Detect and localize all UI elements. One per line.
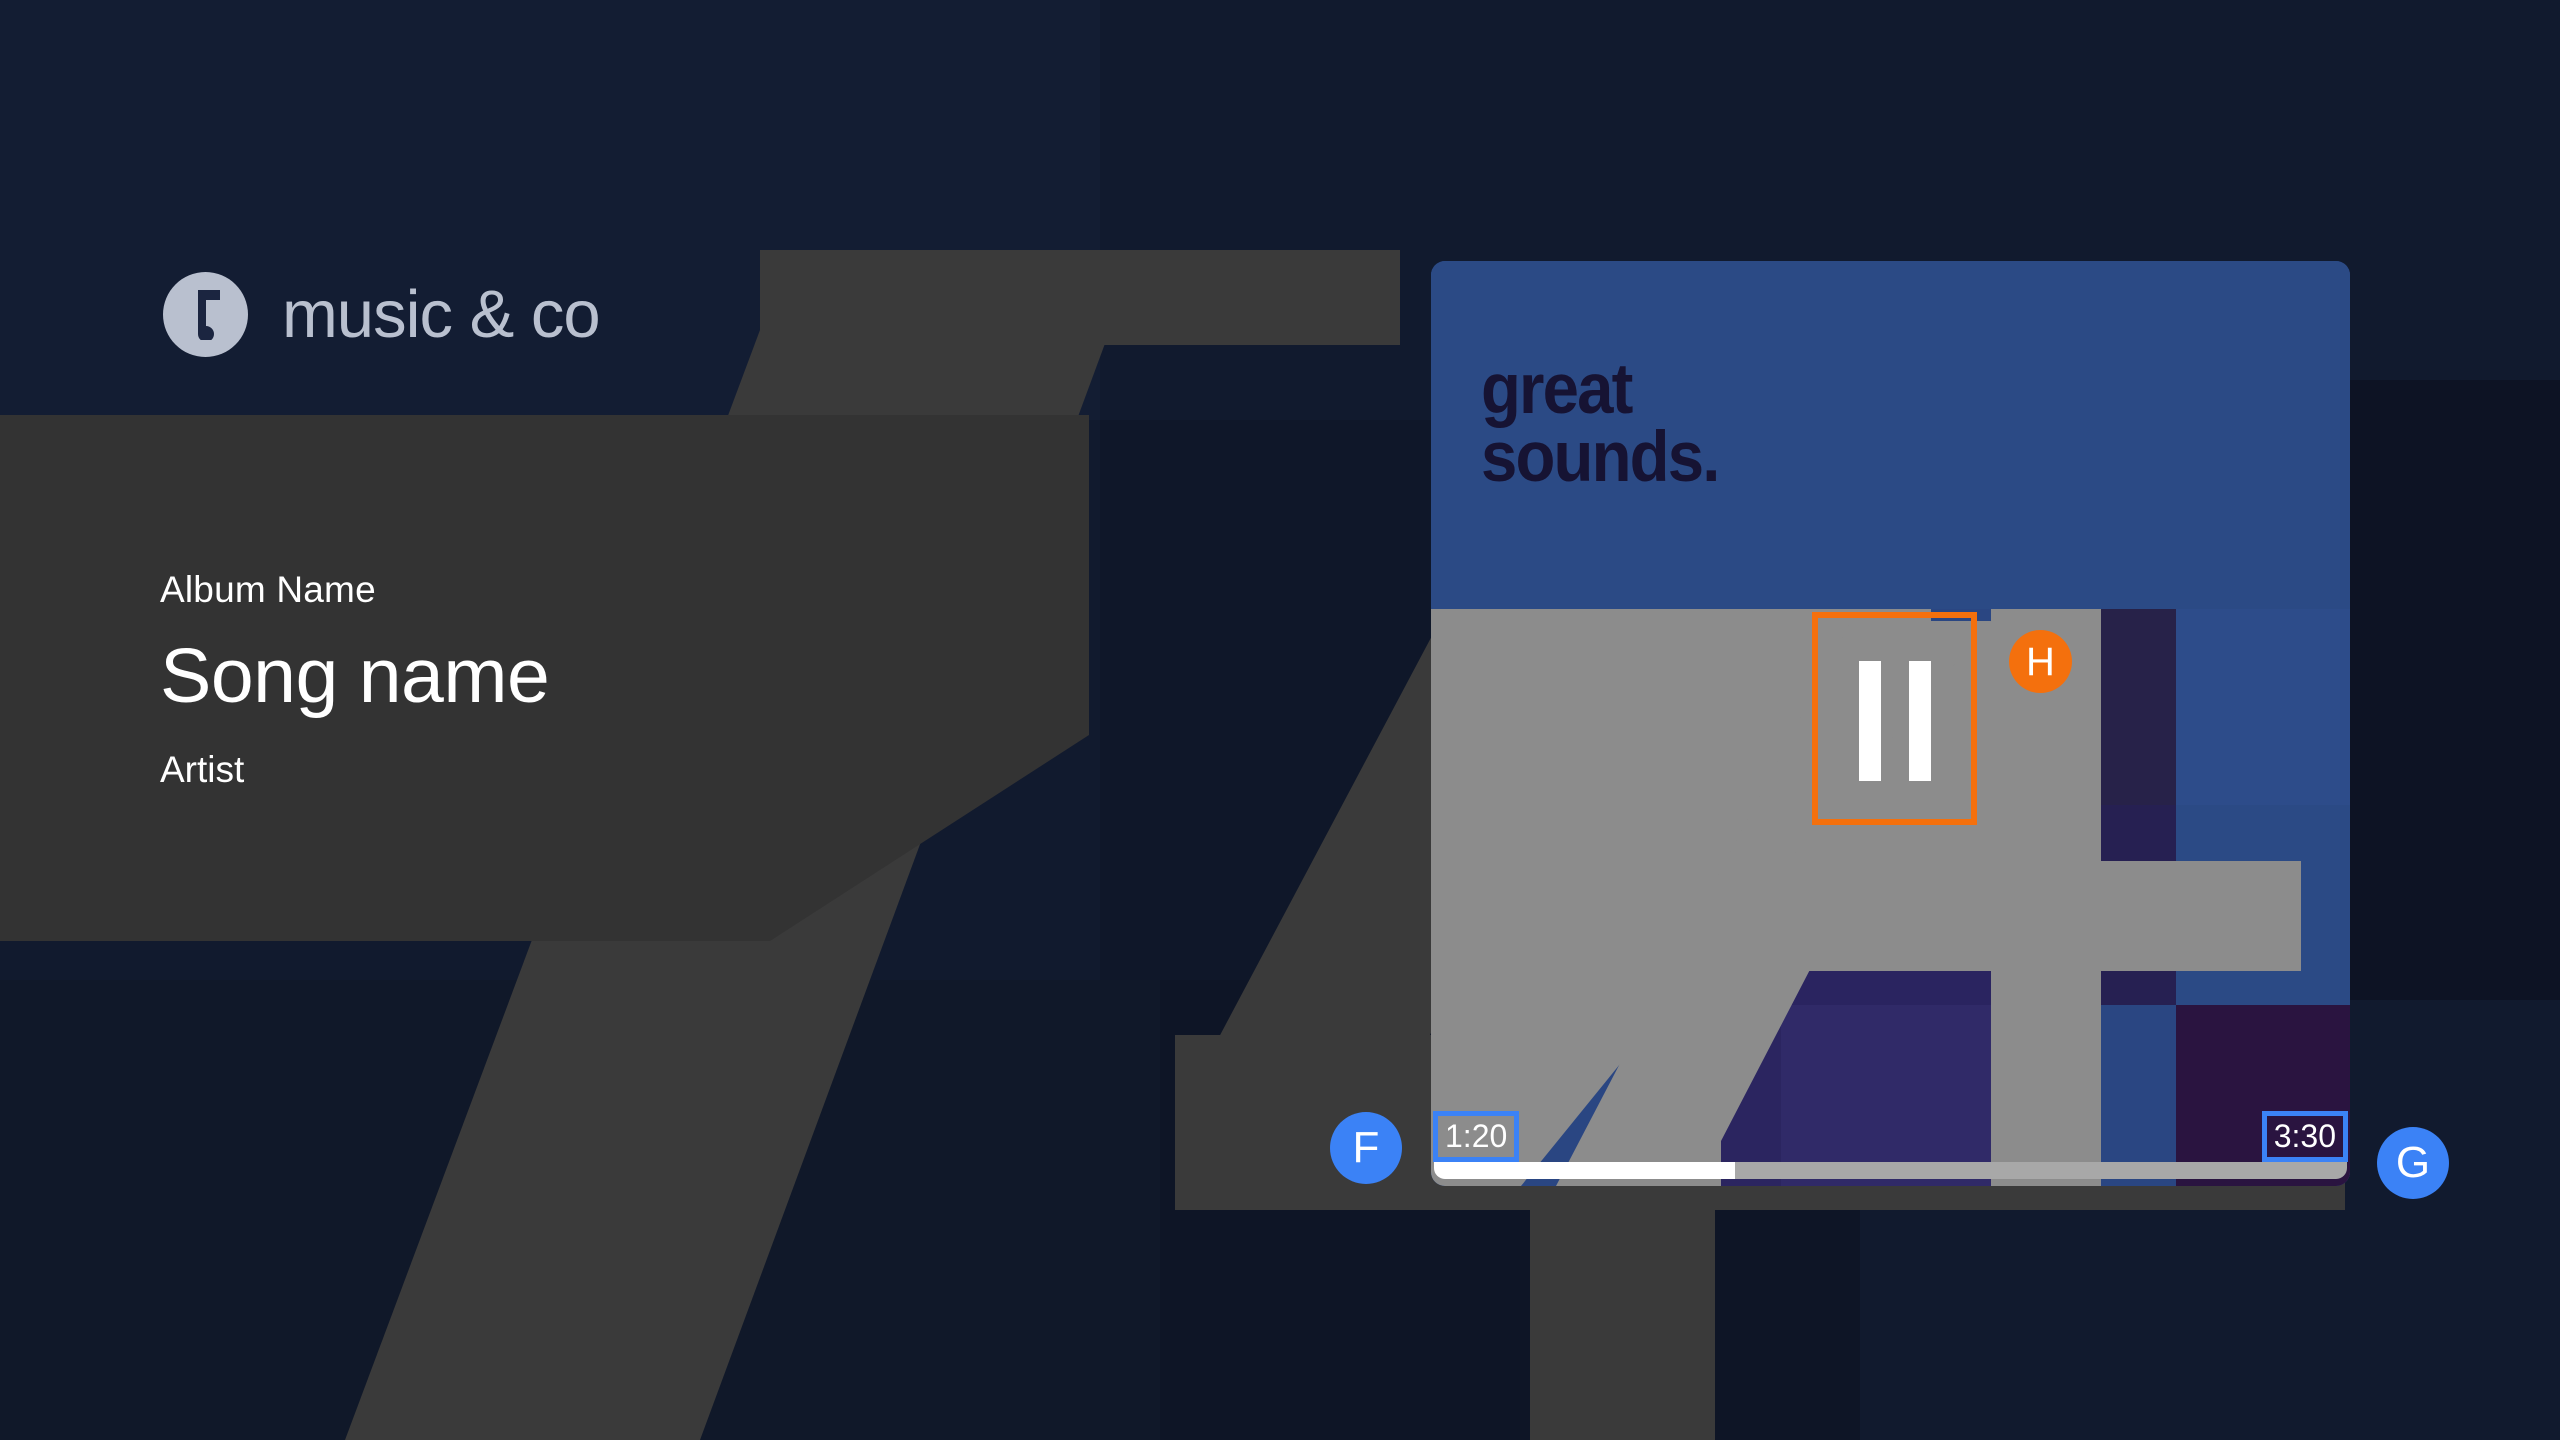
song-title-label: Song name [160,633,549,719]
cover-headline-line2: sounds. [1481,424,1719,492]
brand-name-label: music & co [282,281,600,348]
brand-logo[interactable]: music & co [163,272,600,357]
now-playing-info: Album Name Song name Artist [160,570,549,791]
progress-bar[interactable] [1431,1162,2350,1186]
total-time-label: 3:30 [2267,1116,2343,1157]
artist-name-label: Artist [160,749,549,791]
album-name-label: Album Name [160,570,549,611]
marker-f: F [1330,1112,1402,1184]
cover-headline: great sounds. [1481,356,1719,492]
progress-track[interactable] [1434,1162,2347,1179]
music-note-icon [163,272,248,357]
elapsed-time-label: 1:20 [1438,1116,1514,1157]
marker-g: G [2377,1127,2449,1199]
pause-button-highlight [1812,612,1977,825]
marker-h: H [2009,630,2072,693]
cover-headline-line1: great [1481,356,1719,424]
progress-fill [1434,1162,1735,1179]
